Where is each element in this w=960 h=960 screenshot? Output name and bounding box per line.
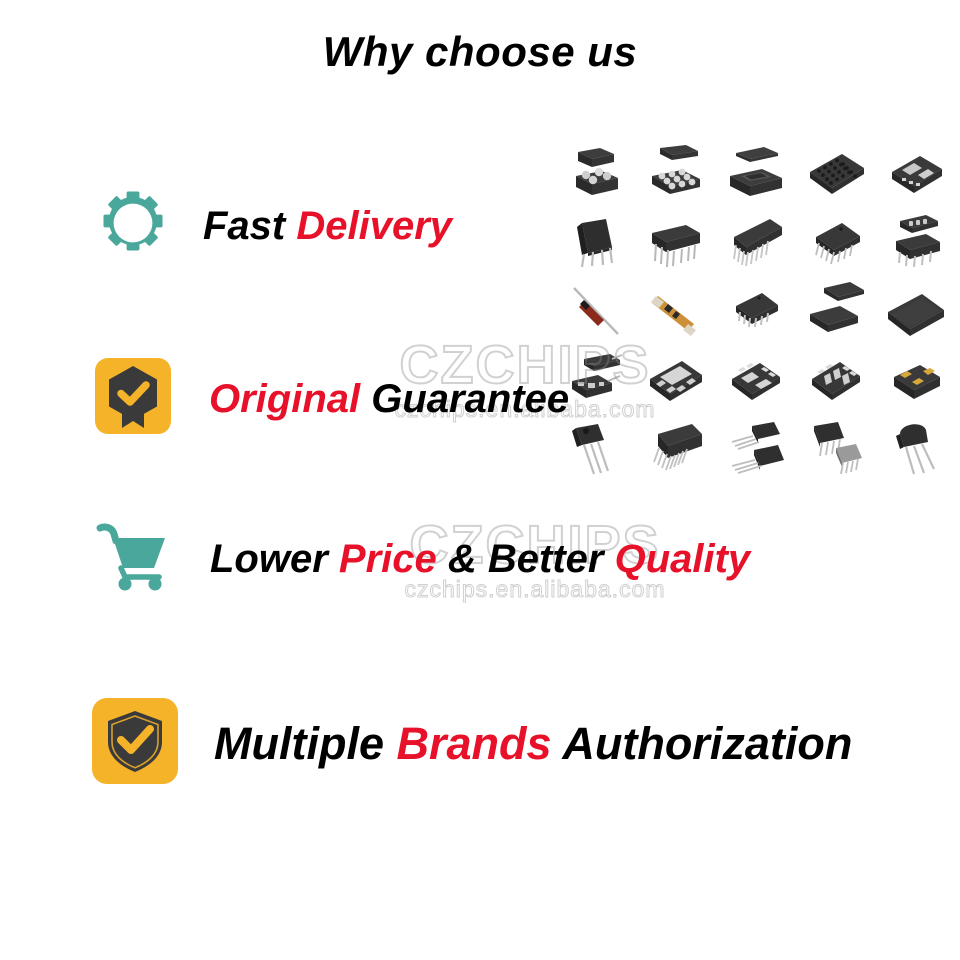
feature-row-lower-price-better-quality: Lower Price & Better Quality — [95, 520, 750, 597]
chip-item-zip-module — [636, 414, 716, 483]
chip-item-bga-ball-grid-array-open — [556, 138, 636, 207]
feature-row-fast-delivery: Fast Delivery — [100, 190, 452, 261]
feature-label-multiple-brands-authorization: Multiple Brands Authorization — [214, 721, 852, 766]
gear-icon — [100, 190, 166, 261]
feature-label-original-guarantee: Original Guarantee — [209, 379, 569, 419]
chip-item-qfn-dual-pad — [876, 138, 956, 207]
chip-item-to-263-pair — [796, 414, 876, 483]
chip-item-qfp-quad-flat-pack — [796, 207, 876, 276]
chip-item-sip-module — [716, 207, 796, 276]
chip-item-qfn-dual-flag — [716, 345, 796, 414]
shopping-cart-icon — [95, 520, 173, 597]
chip-item-gold-pad-package — [876, 345, 956, 414]
chip-item-qfn-multi-lead — [796, 345, 876, 414]
chip-item-to-220-pair — [716, 414, 796, 483]
chip-item-lga-large-pad — [876, 276, 956, 345]
chip-item-dip-optocoupler — [556, 207, 636, 276]
why-choose-us-banner: Why choose us — [0, 0, 960, 960]
chip-item-qfn-flat-pair — [796, 276, 876, 345]
chip-item-to-92-round-transistor — [876, 414, 956, 483]
chip-item-bga-ball-array-exposed — [636, 138, 716, 207]
badge-check-icon — [95, 358, 171, 439]
chip-item-melf-resistor — [636, 276, 716, 345]
feature-label-fast-delivery: Fast Delivery — [203, 206, 452, 246]
feature-row-multiple-brands-authorization: Multiple Brands Authorization — [92, 698, 852, 789]
chip-item-axial-diode — [556, 276, 636, 345]
chip-item-bga-lidded-substrate — [716, 138, 796, 207]
feature-row-original-guarantee: Original Guarantee — [95, 358, 569, 439]
chip-item-dip-through-hole — [636, 207, 716, 276]
page-title: Why choose us — [0, 28, 960, 76]
chip-item-soic-small-outline — [876, 207, 956, 276]
chip-item-bga-dense-ball-grid — [796, 138, 876, 207]
chip-item-dfn-large-pad — [636, 345, 716, 414]
shield-check-icon — [92, 698, 178, 789]
feature-label-lower-price-better-quality: Lower Price & Better Quality — [210, 539, 750, 579]
product-collage — [556, 138, 956, 483]
chip-item-plcc-package — [716, 276, 796, 345]
